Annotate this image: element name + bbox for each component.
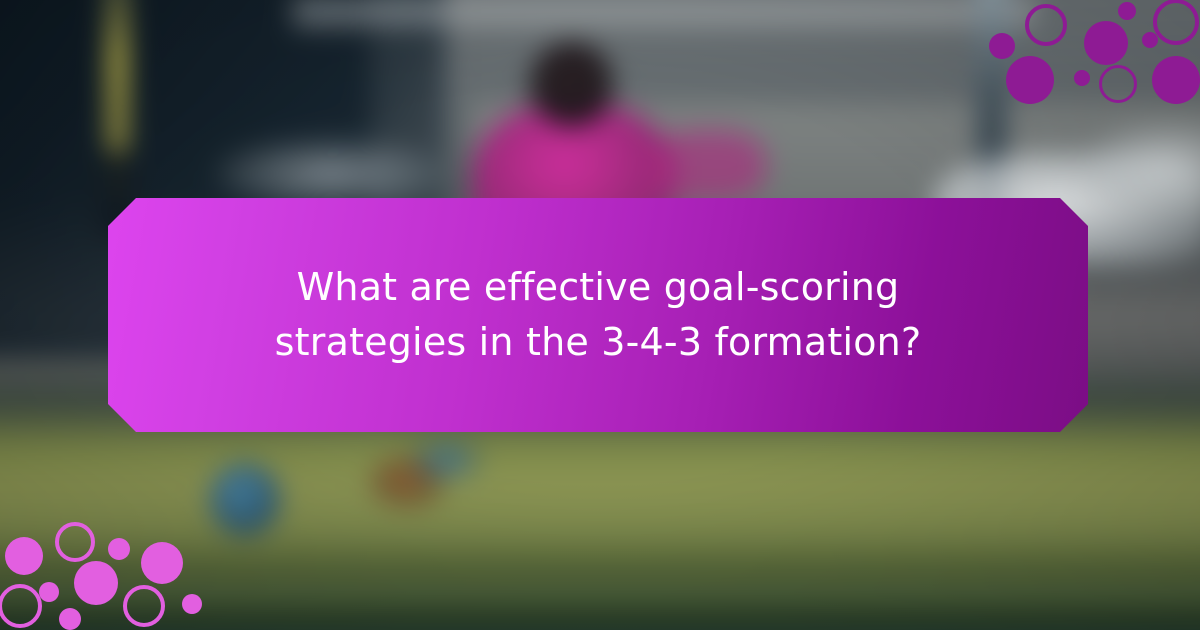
social-share-card: What are effective goal-scoring strategi… [0,0,1200,630]
headline-banner: What are effective goal-scoring strategi… [108,198,1088,432]
headline-text: What are effective goal-scoring strategi… [203,260,993,370]
